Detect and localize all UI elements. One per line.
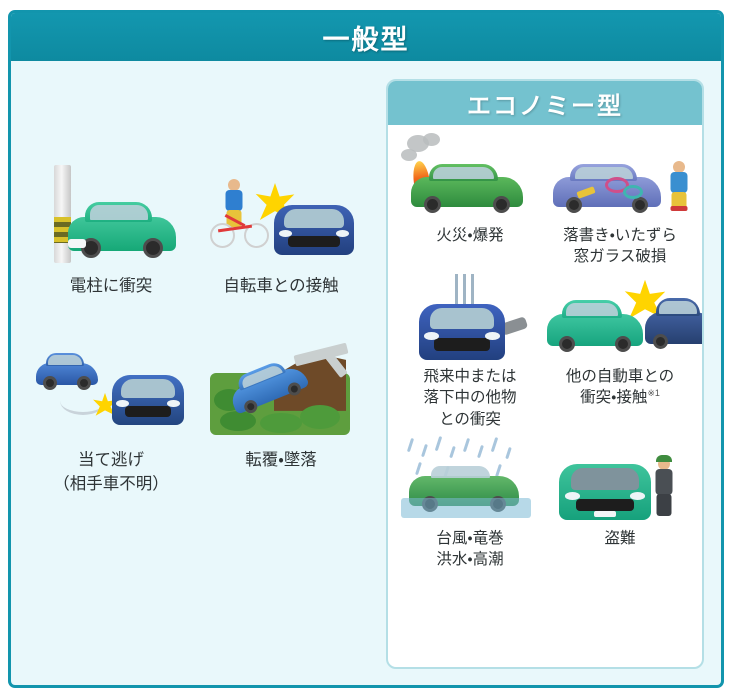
economy-type-body: 火災・爆発 [388, 125, 702, 587]
economy-peril-label: 火災・爆発 [436, 225, 503, 246]
general-type-title: 一般型 [323, 18, 410, 57]
hit-and-run-icon [32, 335, 190, 439]
economy-type-title: エコノミー型 [467, 86, 623, 121]
general-type-panel: 一般型 [8, 10, 724, 688]
economy-peril-item-graffiti: 落書き・いたずら 窓ガラス破損 [545, 133, 695, 268]
graffiti-vandalism-icon [547, 133, 693, 219]
economy-peril-label: 落書き・いたずら 窓ガラス破損 [563, 225, 677, 268]
general-peril-label: 電柱に衝突 [70, 275, 153, 299]
economy-peril-row: 飛来中または 落下中の他物 との衝突 [394, 274, 696, 430]
general-peril-label: 転覆・墜落 [245, 449, 317, 473]
falling-object-impact-icon [397, 274, 543, 360]
overturn-fall-icon [202, 335, 360, 439]
typhoon-flood-icon [397, 436, 543, 522]
general-peril-row: 当て逃げ （相手車不明） [21, 335, 371, 497]
economy-peril-item-fire: 火災・爆発 [395, 133, 545, 268]
general-peril-item-pole: 電柱に衝突 [31, 161, 191, 299]
footnote-marker: ※1 [647, 388, 660, 398]
economy-peril-row: 火災・爆発 [394, 133, 696, 268]
economy-peril-item-typhoon-flood: 台風・竜巻 洪水・高潮 [395, 436, 545, 571]
economy-peril-item-collision: 他の自動車との 衝突・接触※1 [545, 274, 695, 430]
general-type-header: 一般型 [11, 13, 721, 61]
general-peril-row: 電柱に衝突 [21, 161, 371, 299]
bicycle-contact-icon [202, 161, 360, 265]
economy-peril-row: 台風・竜巻 洪水・高潮 [394, 436, 696, 571]
general-peril-list: 電柱に衝突 [21, 161, 371, 533]
economy-peril-item-theft: 盗難 [545, 436, 695, 571]
economy-peril-label: 飛来中または 落下中の他物 との衝突 [423, 366, 516, 430]
general-peril-label: 自転車との接触 [223, 275, 338, 299]
economy-peril-item-falling-object: 飛来中または 落下中の他物 との衝突 [395, 274, 545, 430]
economy-peril-label: 他の自動車との 衝突・接触※1 [566, 366, 674, 409]
general-type-body: 電柱に衝突 [11, 61, 721, 685]
general-peril-item-bicycle: 自転車との接触 [201, 161, 361, 299]
theft-icon [547, 436, 693, 522]
economy-peril-label: 盗難 [604, 528, 635, 549]
economy-peril-label: 台風・竜巻 洪水・高潮 [436, 528, 503, 571]
general-peril-item-hit-and-run: 当て逃げ （相手車不明） [31, 335, 191, 497]
car-hits-utility-pole-icon [32, 161, 190, 265]
economy-type-header: エコノミー型 [388, 81, 702, 125]
collision-with-other-car-icon [547, 274, 693, 360]
economy-type-panel: エコノミー型 [386, 79, 704, 669]
general-peril-item-overturn: 転覆・墜落 [201, 335, 361, 497]
fire-explosion-icon [397, 133, 543, 219]
general-peril-label: 当て逃げ （相手車不明） [53, 449, 169, 497]
